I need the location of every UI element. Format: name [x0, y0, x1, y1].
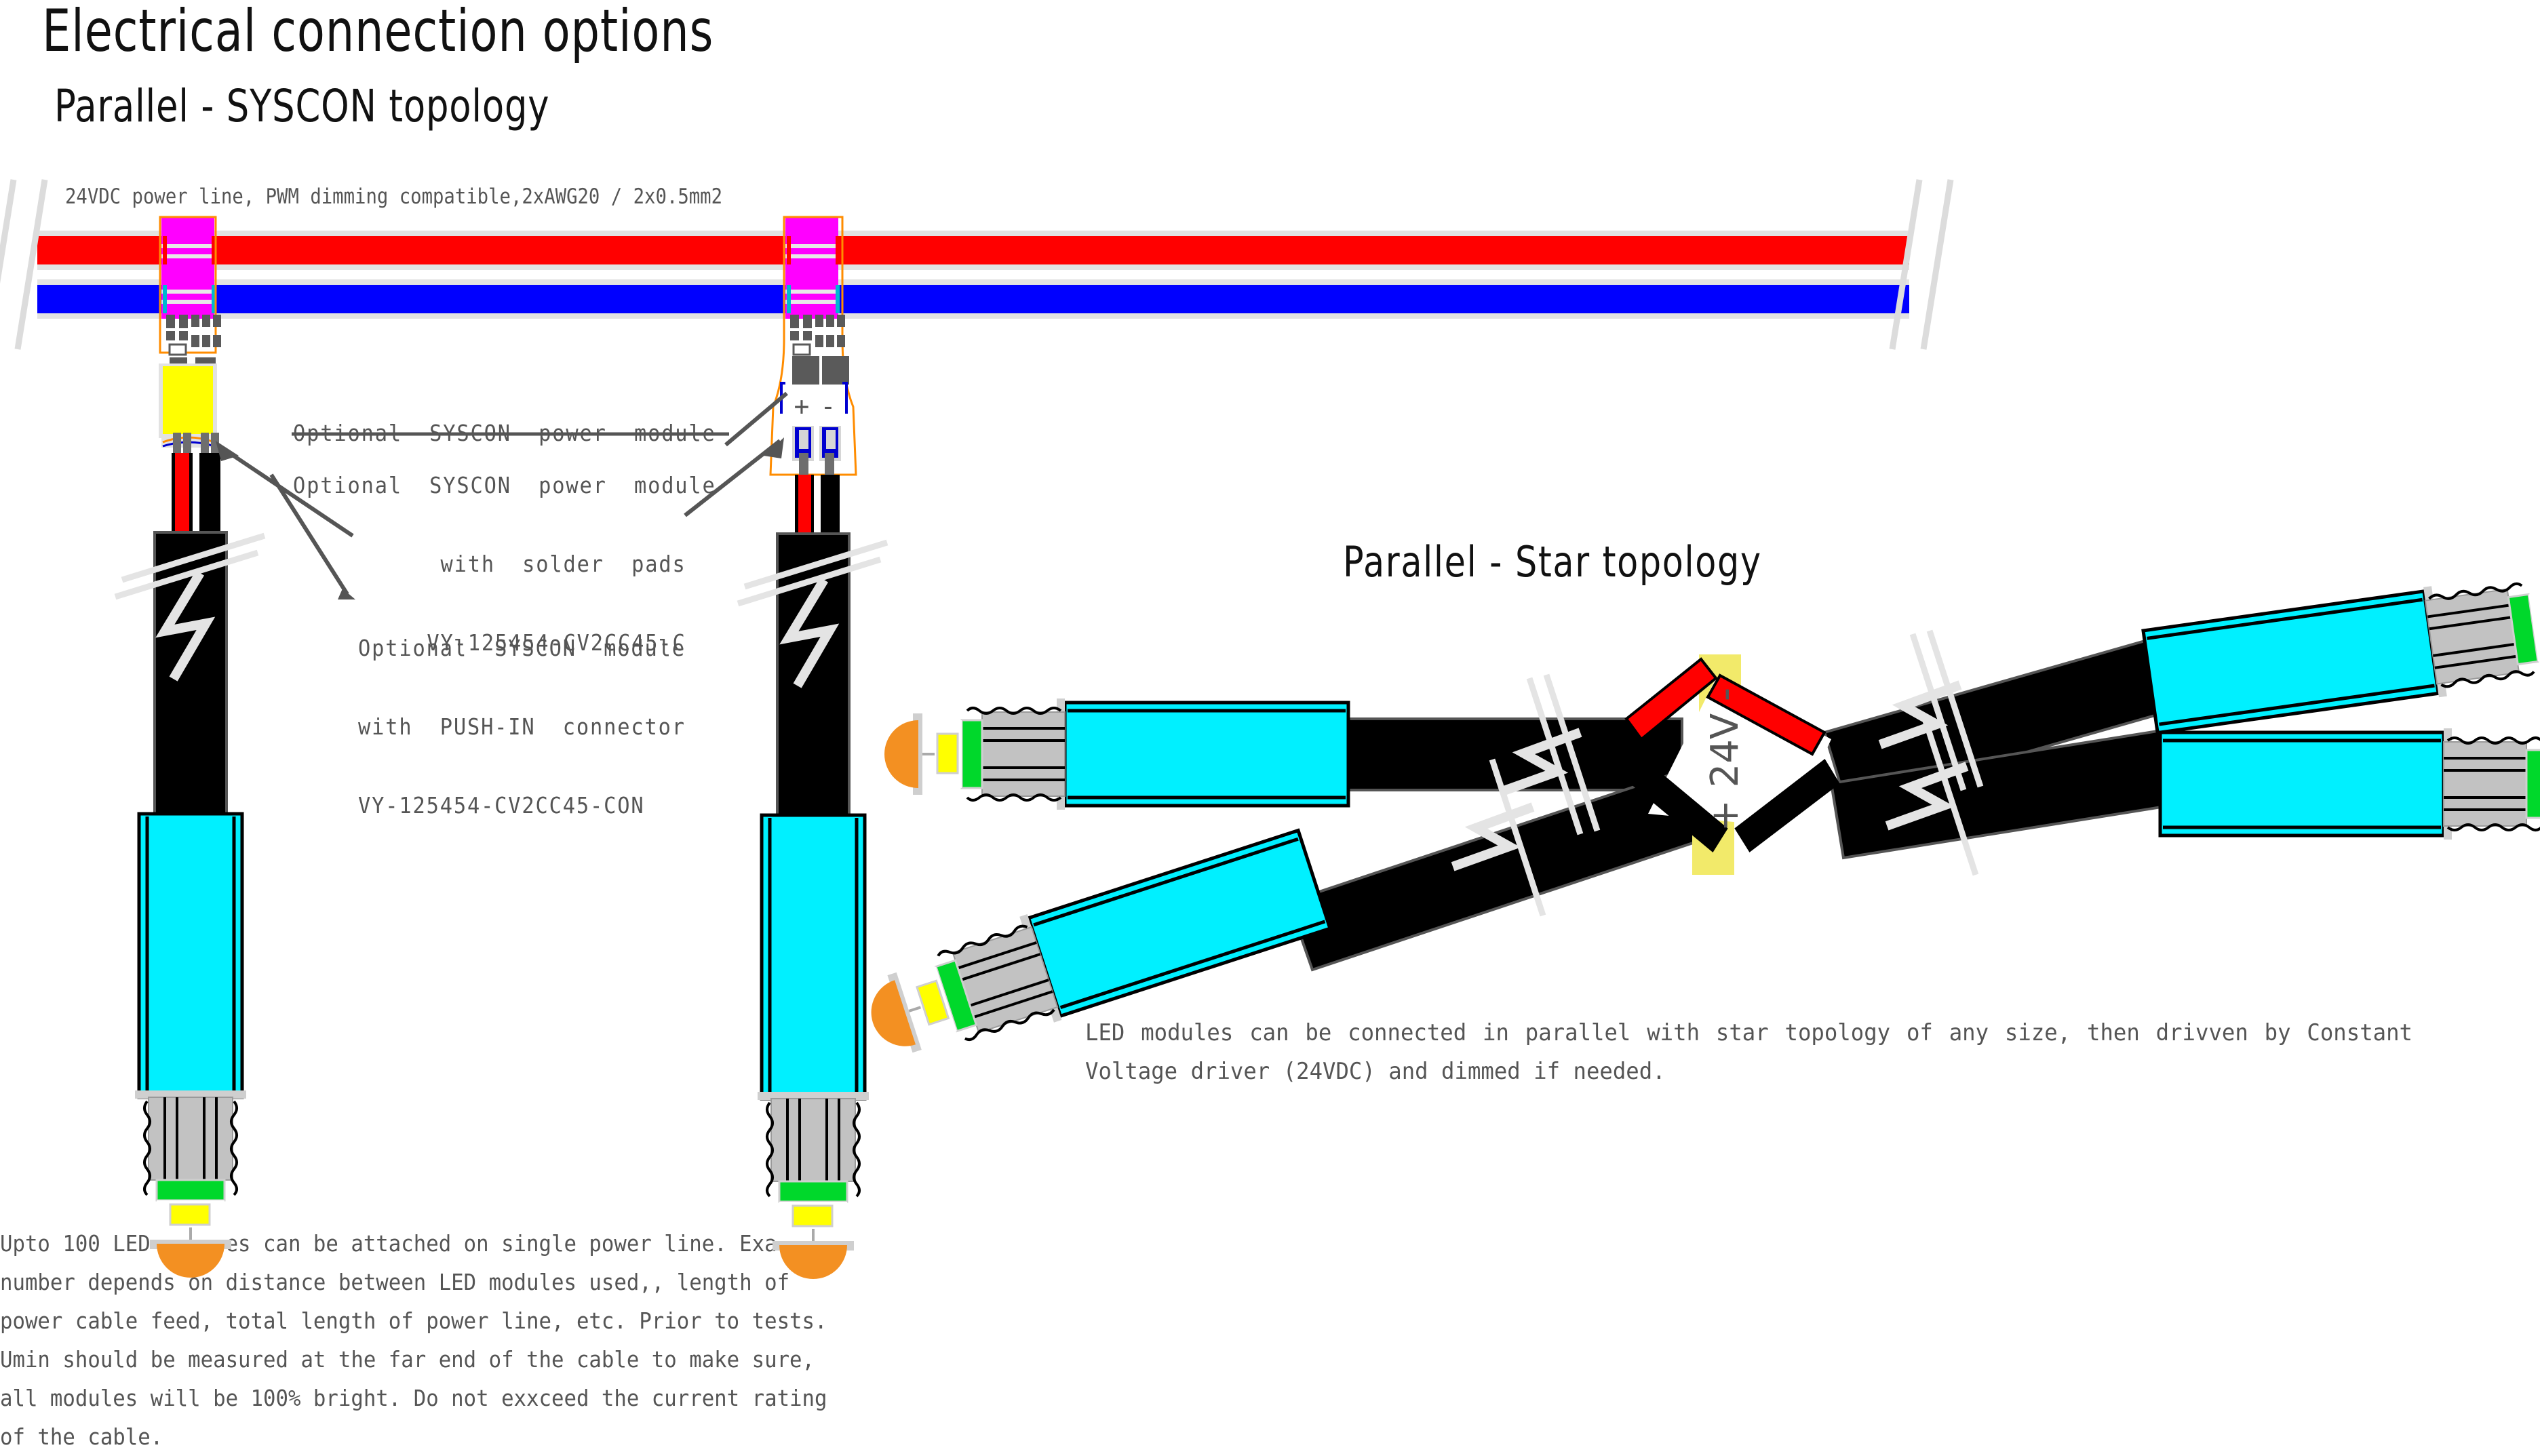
leader-line-power-module: [726, 393, 787, 445]
led-module-star-right-upper[interactable]: [2143, 562, 2540, 737]
syscon-module-push-in[interactable]: + -: [770, 217, 856, 536]
led-module-2[interactable]: [758, 815, 869, 1279]
syscon-wire-negative-1: [199, 453, 220, 534]
cable-1: [115, 524, 265, 817]
syscon-wire-positive-2: [798, 475, 811, 536]
syscon-body-1: [163, 366, 213, 434]
diagram-canvas: + -: [0, 0, 2540, 1428]
leader-line-push-in: [271, 475, 347, 594]
star-cable-left-lower: [1289, 773, 1699, 970]
cable-2: [738, 534, 887, 819]
syscon-wire-positive-1: [175, 453, 189, 534]
junction-voltage-label: + 24V -: [1703, 688, 1747, 831]
terminal-minus-label: -: [821, 391, 836, 421]
bus-negative-line: [37, 285, 1909, 313]
led-module-1[interactable]: [135, 814, 246, 1278]
led-module-star-right-lower[interactable]: [2160, 728, 2540, 840]
syscon-components-1: [166, 315, 221, 363]
leader-line-push-in-terminal: [685, 441, 780, 515]
leader-line-solder-pins: [218, 446, 353, 536]
bus-positive-line: [37, 236, 1909, 264]
led-module-star-left-lower[interactable]: [856, 827, 1331, 1076]
syscon-wire-negative-2: [821, 475, 840, 536]
led-module-star-left-upper[interactable]: [884, 699, 1348, 810]
syscon-module-solder-pads[interactable]: [159, 217, 221, 534]
terminal-plus-label: +: [794, 391, 810, 421]
syscon-components-2: [790, 315, 849, 385]
power-bus: [0, 180, 1951, 349]
